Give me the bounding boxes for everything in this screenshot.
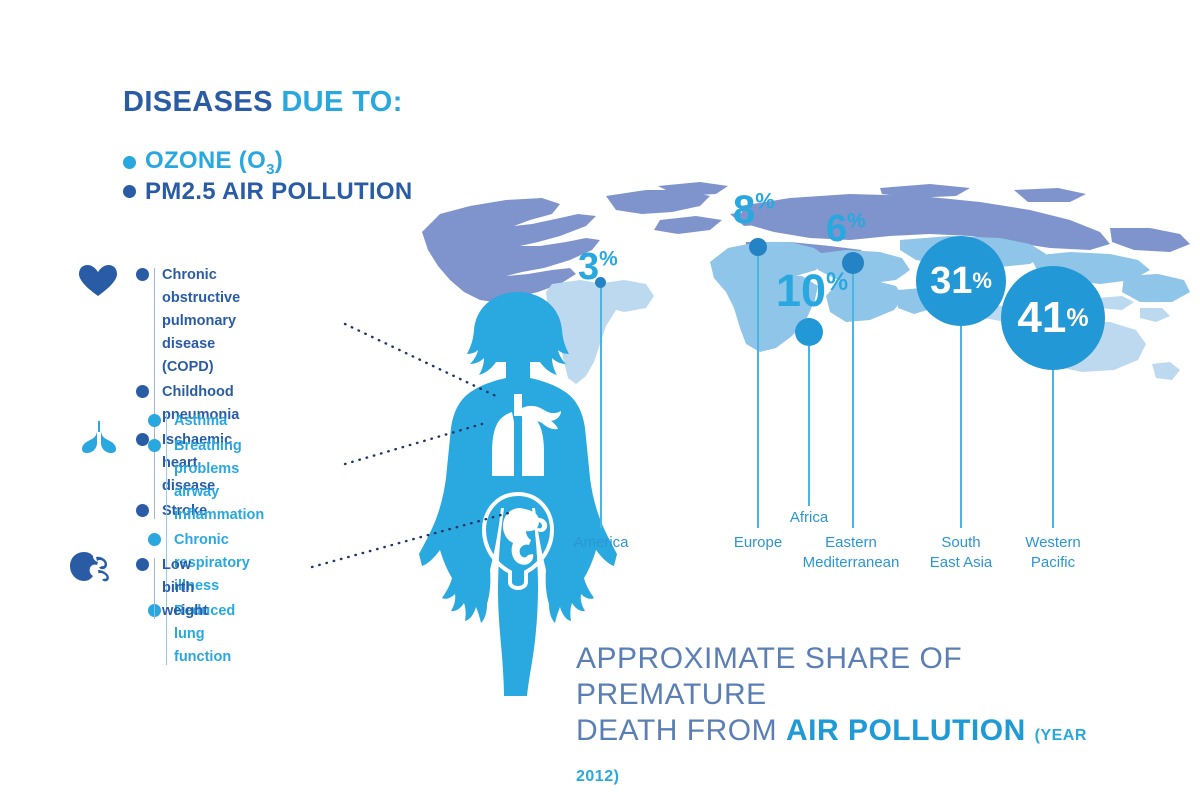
bubble-western-pacific[interactable]: 41% (1001, 266, 1105, 370)
caption-line-2: DEATH FROM AIR POLLUTION (YEAR 2012) (576, 713, 1116, 795)
heart-icon (78, 264, 118, 298)
bullet-dot-icon (123, 185, 136, 198)
list-item: Low birth weight (162, 554, 208, 623)
infographic-canvas: DISEASES DUE TO: OZONE (O3) PM2.5 AIR PO… (0, 0, 1200, 805)
bubble-america[interactable] (595, 277, 606, 288)
list-item: Asthma (174, 410, 264, 433)
stem-south-east-asia (960, 326, 962, 528)
percent-label-africa: 10% (776, 268, 848, 313)
bullet-stack: Low birth weight (136, 554, 208, 623)
bullet-dot-icon (136, 268, 149, 281)
stem-western-pacific (1052, 370, 1054, 528)
bubble-south-east-asia[interactable]: 31% (916, 236, 1006, 326)
bullet-dot-icon (136, 385, 149, 398)
bullet-dot-icon (148, 533, 161, 546)
bubble-africa[interactable] (795, 318, 823, 346)
bullet-dot-icon (123, 156, 136, 169)
bubble-europe[interactable] (749, 238, 767, 256)
region-label-america: America (555, 533, 647, 553)
list-item: Breathing problems airway inflammation (174, 435, 264, 527)
pregnant-woman-illustration (418, 282, 618, 702)
bullet-dot-icon (148, 439, 161, 452)
title-dark: DISEASES (123, 86, 281, 118)
fetus-icon (68, 550, 108, 584)
percent-label-europe: 8% (733, 190, 775, 230)
region-label-south-east-asia: South East Asia (916, 533, 1006, 573)
bullet-dot-icon (148, 414, 161, 427)
title-light: DUE TO: (281, 86, 403, 118)
lungs-icon (80, 420, 120, 454)
legend-label-pm25: PM2.5 AIR POLLUTION (145, 178, 413, 206)
legend-item-pm25: PM2.5 AIR POLLUTION (123, 177, 413, 206)
region-label-western-pacific: Western Pacific (1007, 533, 1099, 573)
birth-bullet-list: Low birth weight (136, 554, 208, 625)
percent-label-eastern-mediterranean: 6% (826, 210, 866, 248)
stem-europe (757, 256, 759, 528)
legend-label-ozone: OZONE (O3) (145, 147, 283, 178)
bubble-eastern-mediterranean[interactable] (842, 252, 864, 274)
bullet-dot-icon (136, 558, 149, 571)
caption-block: APPROXIMATE SHARE OF PREMATURE DEATH FRO… (576, 641, 1116, 795)
bullet-stack: Asthma Breathing problems airway inflamm… (148, 410, 264, 669)
region-label-eastern-mediterranean: Eastern Mediterranean (788, 533, 914, 573)
stem-eastern-mediterranean (852, 274, 854, 528)
respiratory-bullet-list: Asthma Breathing problems airway inflamm… (148, 410, 264, 671)
list-item: Chronic obstructive pulmonary disease (C… (162, 264, 240, 379)
page-title: DISEASES DUE TO: (123, 86, 403, 119)
pollutant-legend: OZONE (O3) PM2.5 AIR POLLUTION (123, 148, 413, 206)
legend-item-ozone: OZONE (O3) (123, 148, 413, 177)
region-label-africa: Africa (764, 508, 854, 528)
stem-america (600, 288, 602, 528)
caption-line-1: APPROXIMATE SHARE OF PREMATURE (576, 641, 1116, 713)
stem-africa (808, 346, 810, 506)
